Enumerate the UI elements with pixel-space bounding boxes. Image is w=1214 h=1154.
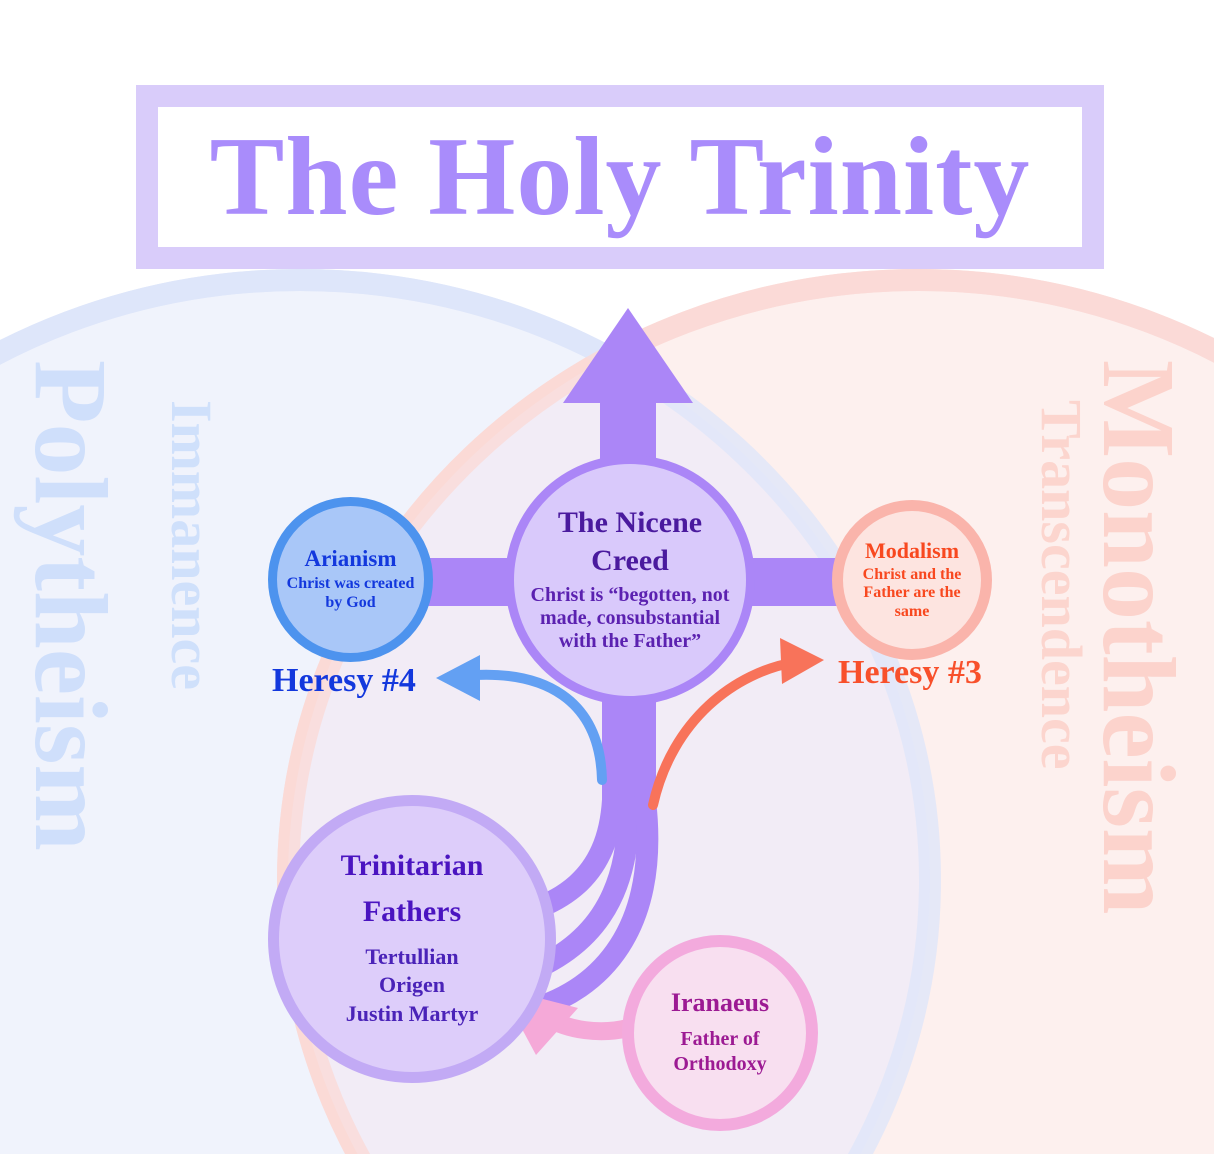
node-trinitarian-fathers[interactable]: Trinitarian Fathers Tertullian Origen Ju… bbox=[268, 795, 556, 1083]
node-arianism-subtitle: Christ was created by God bbox=[277, 575, 424, 612]
node-iranaeus-subtitle-line1: Father of bbox=[680, 1027, 759, 1052]
node-nicene-creed-title-line1: The Nicene bbox=[558, 507, 702, 539]
page-title: The Holy Trinity bbox=[210, 121, 1031, 233]
label-heresy-4: Heresy #4 bbox=[272, 664, 416, 698]
region-label-monotheism: Monotheism bbox=[1086, 360, 1190, 915]
node-nicene-creed[interactable]: The Nicene Creed Christ is “begotten, no… bbox=[505, 455, 755, 705]
node-modalism-title: Modalism bbox=[865, 539, 959, 563]
node-nicene-creed-subtitle: Christ is “begotten, not made, consubsta… bbox=[514, 584, 746, 654]
node-trinitarian-fathers-person-2: Origen bbox=[379, 971, 445, 1000]
node-arianism[interactable]: Arianism Christ was created by God bbox=[268, 497, 433, 662]
region-label-immanence: Immanence bbox=[162, 400, 220, 690]
node-trinitarian-fathers-person-1: Tertullian bbox=[365, 943, 458, 972]
region-label-transcendence: Transcendence bbox=[1032, 400, 1090, 769]
node-nicene-creed-title-line2: Creed bbox=[591, 545, 669, 577]
node-trinitarian-fathers-title-line1: Trinitarian bbox=[341, 850, 484, 882]
node-modalism-subtitle: Christ and the Father are the same bbox=[843, 566, 981, 622]
node-iranaeus[interactable]: Iranaeus Father of Orthodoxy bbox=[622, 935, 818, 1131]
node-trinitarian-fathers-title-line2: Fathers bbox=[363, 896, 461, 928]
label-heresy-3: Heresy #3 bbox=[838, 656, 982, 690]
diagram-canvas: Polytheism Immanence Monotheism Transcen… bbox=[0, 0, 1214, 1154]
node-iranaeus-subtitle-line2: Orthodoxy bbox=[673, 1052, 766, 1077]
region-label-polytheism: Polytheism bbox=[18, 360, 122, 851]
node-arianism-title: Arianism bbox=[305, 547, 397, 572]
node-iranaeus-title: Iranaeus bbox=[671, 989, 769, 1017]
node-modalism[interactable]: Modalism Christ and the Father are the s… bbox=[832, 500, 992, 660]
node-trinitarian-fathers-person-3: Justin Martyr bbox=[346, 1000, 479, 1029]
title-box: The Holy Trinity bbox=[136, 85, 1104, 269]
